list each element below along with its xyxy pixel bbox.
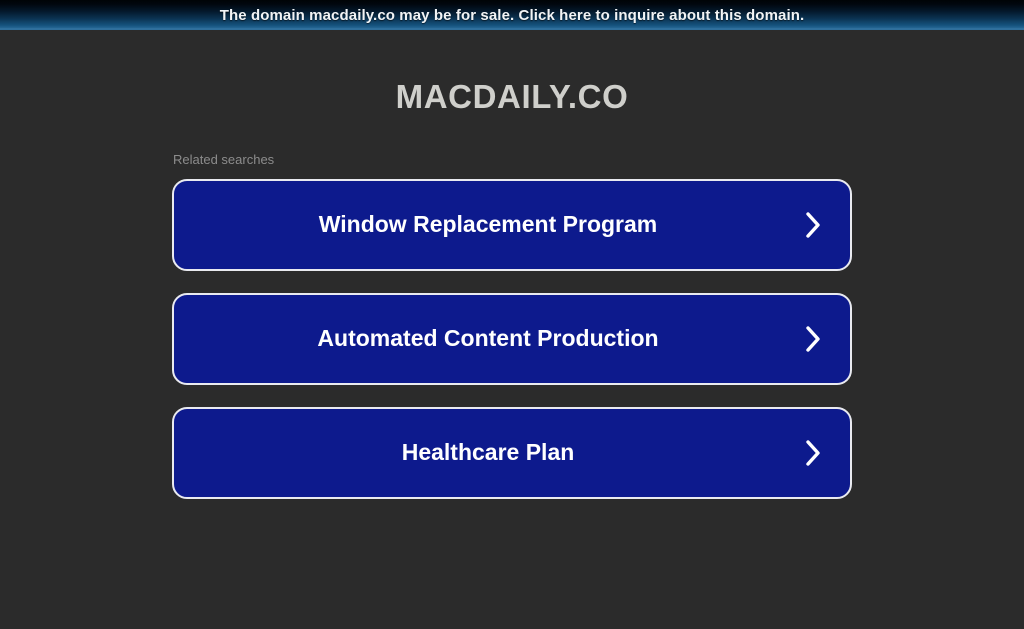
related-search-label: Window Replacement Program [255,211,721,239]
related-search-item-3[interactable]: Healthcare Plan [172,407,852,499]
domain-sale-banner-text: The domain macdaily.co may be for sale. … [220,8,805,23]
page-title: MACDAILY.CO [0,30,1024,117]
parked-domain-page: MACDAILY.CO Related searches Window Repl… [0,30,1024,629]
related-search-label: Automated Content Production [253,325,722,353]
related-searches-section: Related searches Window Replacement Prog… [172,117,852,499]
chevron-right-icon [804,210,822,240]
related-searches-list: Window Replacement Program Automated Con… [172,179,852,499]
chevron-right-icon [804,324,822,354]
related-searches-label: Related searches [172,153,852,179]
related-search-label: Healthcare Plan [338,439,639,467]
related-search-item-1[interactable]: Window Replacement Program [172,179,852,271]
chevron-right-icon [804,438,822,468]
domain-sale-banner[interactable]: The domain macdaily.co may be for sale. … [0,0,1024,30]
related-search-item-2[interactable]: Automated Content Production [172,293,852,385]
